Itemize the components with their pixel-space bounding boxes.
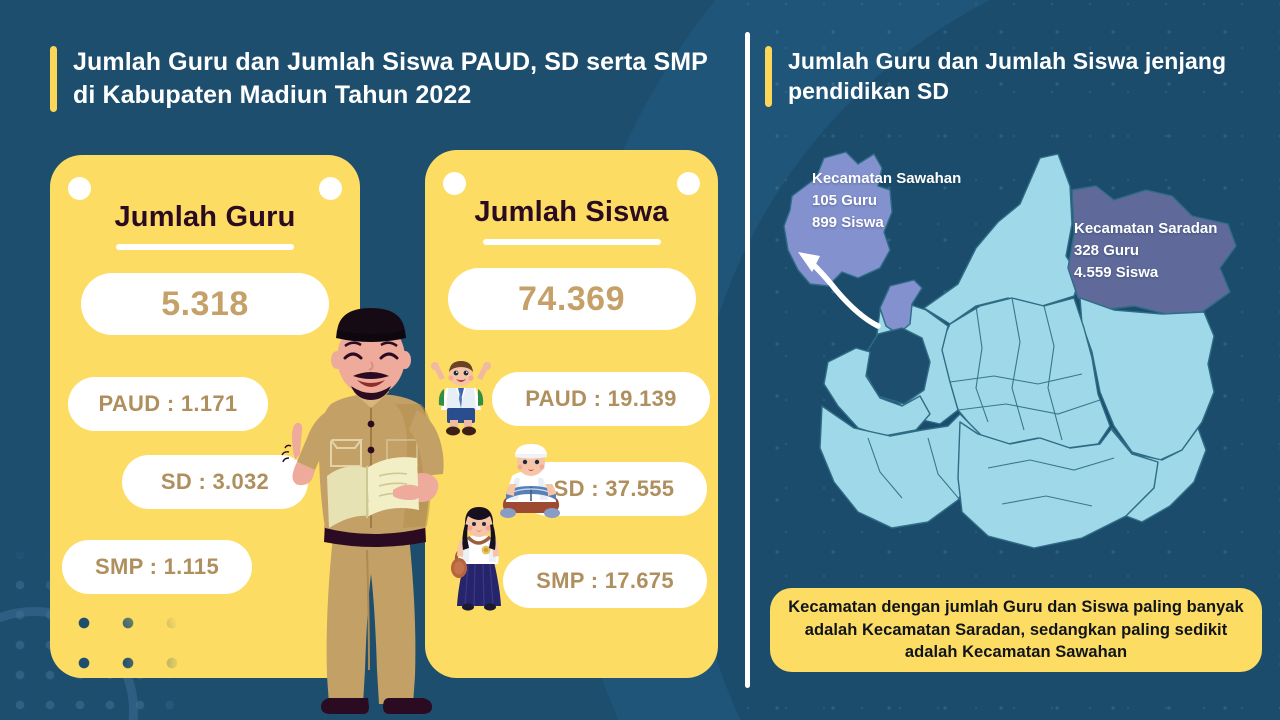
map-label-sawahan-teachers: 105 Guru: [812, 190, 961, 212]
card-hole-left-icon: [443, 172, 466, 195]
infographic-canvas: Jumlah Guru dan Jumlah Siswa PAUD, SD se…: [0, 0, 1280, 720]
map-label-saradan-teachers: 328 Guru: [1074, 240, 1217, 262]
map-label-saradan-students: 4.559 Siswa: [1074, 262, 1217, 284]
card-total-siswa: 74.369: [448, 268, 696, 330]
card-hole-right-icon: [319, 177, 342, 200]
card-title-siswa: Jumlah Siswa: [425, 196, 718, 229]
card-breakdown-siswa-paud: PAUD : 19.139: [492, 372, 710, 426]
right-panel-title: Jumlah Guru dan Jumlah Siswa jenjang pen…: [765, 46, 1235, 107]
map-label-sawahan-students: 899 Siswa: [812, 212, 961, 234]
card-divider-rule: [116, 244, 294, 250]
teacher-illustration: [275, 300, 475, 720]
card-breakdown-guru-paud: PAUD : 1.171: [68, 377, 268, 431]
card-divider-rule: [483, 239, 661, 245]
map-label-sawahan: Kecamatan Sawahan 105 Guru 899 Siswa: [812, 168, 961, 234]
left-panel-title-text: Jumlah Guru dan Jumlah Siswa PAUD, SD se…: [73, 46, 710, 112]
left-panel-title: Jumlah Guru dan Jumlah Siswa PAUD, SD se…: [50, 46, 710, 112]
title-accent-bar: [50, 46, 57, 112]
map-label-sawahan-district: Kecamatan Sawahan: [812, 168, 961, 190]
card-hole-left-icon: [68, 177, 91, 200]
right-panel-title-text: Jumlah Guru dan Jumlah Siswa jenjang pen…: [788, 46, 1235, 107]
map-label-saradan-district: Kecamatan Saradan: [1074, 218, 1217, 240]
map-caption-box: Kecamatan dengan jumlah Guru dan Siswa p…: [770, 588, 1262, 672]
map-kabupaten-madiun: Kecamatan Sawahan 105 Guru 899 Siswa Kec…: [762, 138, 1272, 570]
map-label-saradan: Kecamatan Saradan 328 Guru 4.559 Siswa: [1074, 218, 1217, 284]
panel-divider: [745, 32, 750, 688]
map-caption-text: Kecamatan dengan jumlah Guru dan Siswa p…: [788, 596, 1244, 664]
title-accent-bar: [765, 46, 772, 107]
card-hole-right-icon: [677, 172, 700, 195]
card-breakdown-siswa-smp: SMP : 17.675: [503, 554, 707, 608]
card-title-guru: Jumlah Guru: [50, 201, 360, 234]
card-breakdown-guru-smp: SMP : 1.115: [62, 540, 252, 594]
